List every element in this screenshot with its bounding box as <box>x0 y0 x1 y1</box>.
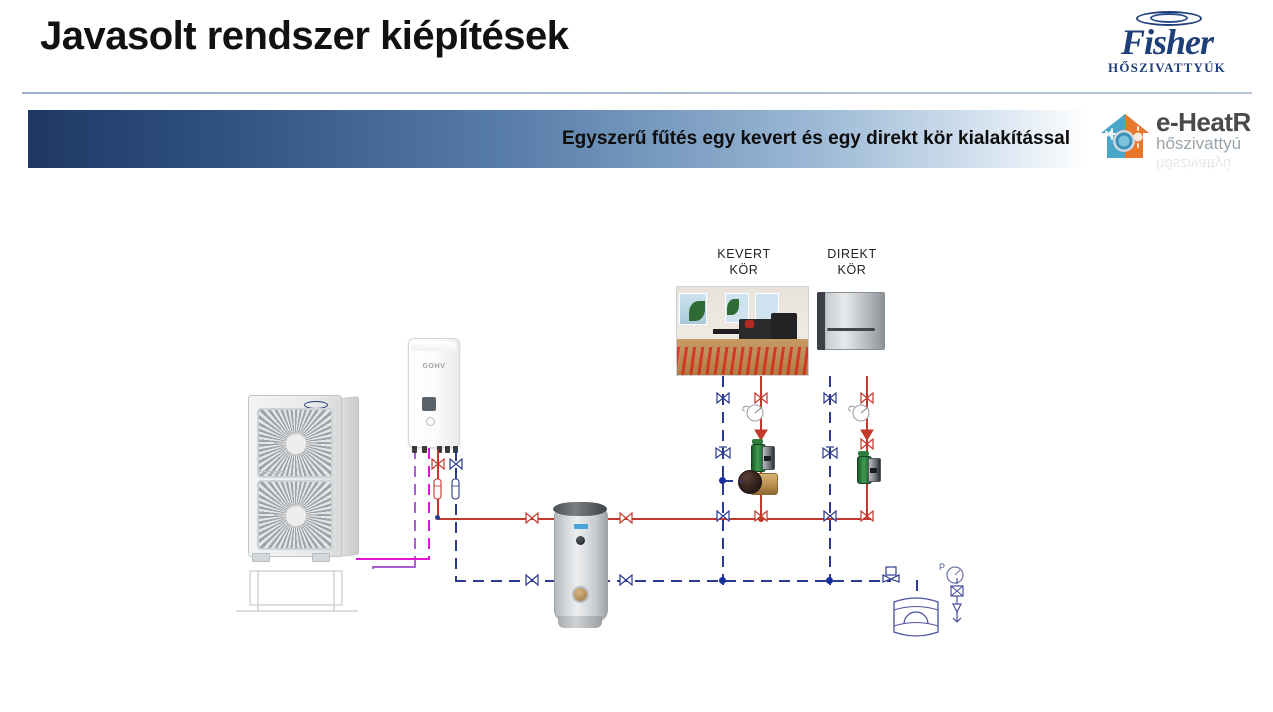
tank-flow-out-valve-icon <box>618 512 634 524</box>
slide-root: Javasolt rendszer kiépítések Fisher HŐSZ… <box>0 0 1273 712</box>
fisher-logo: Fisher HŐSZIVATTYÚK <box>1079 8 1255 80</box>
indoor-unit-display <box>422 397 436 411</box>
direct-return-tee-node <box>826 577 833 584</box>
house-icon <box>1098 112 1152 162</box>
indoor-unit-brand: GOHV <box>409 363 459 370</box>
direct-flow-mid-valve-icon <box>859 438 875 450</box>
expansion-vessel <box>890 594 942 642</box>
title-divider <box>22 92 1252 94</box>
fancoil-unit <box>817 292 885 350</box>
tank-return-valve-icon <box>524 574 540 586</box>
eheatr-text: e-HeatR hőszivattyú <box>1156 110 1251 153</box>
label-direkt-kor: DIREKT KÖR <box>808 246 896 278</box>
mixing-bypass-node <box>719 477 726 484</box>
tank-flange <box>572 586 589 603</box>
expansion-shutoff-valve-icon <box>880 566 902 584</box>
underfloor-heating-photo <box>676 286 809 376</box>
page-title: Javasolt rendszer kiépítések <box>40 14 569 59</box>
indoor-unit-knob[interactable] <box>426 417 435 426</box>
direct-flow-bottom-valve-icon <box>859 510 875 522</box>
filter-icon <box>433 478 442 500</box>
svg-text:P: P <box>939 562 945 572</box>
direct-circuit-pump <box>857 454 879 484</box>
tank-return-out-valve-icon <box>618 574 634 586</box>
outdoor-unit: Fisher <box>248 395 358 570</box>
refrigerant-violet-elbow <box>372 566 374 569</box>
fisher-tagline: HŐSZIVATTYÚK <box>1079 60 1255 76</box>
eheatr-logo: e-HeatR hőszivattyú hőszivattyú <box>1096 108 1273 170</box>
direct-return-riser <box>829 376 831 586</box>
mixed-return-bottom-valve-icon <box>715 510 731 522</box>
refrigerant-line-violet-horizontal <box>372 566 416 568</box>
safety-valve-icon <box>944 578 970 624</box>
tank-flow-valve-icon <box>524 512 540 524</box>
mixed-flow-valve-icon <box>753 392 769 404</box>
tank-badge <box>574 524 588 529</box>
mixed-return-tee-node <box>719 577 726 584</box>
mixed-circuit-pump <box>751 442 773 472</box>
fisher-swoosh-icon <box>1136 8 1198 25</box>
direct-flow-valve-icon <box>859 392 875 404</box>
outdoor-unit-stand <box>236 567 358 615</box>
buffer-tank <box>552 500 608 630</box>
mixed-flow-tee-node <box>758 516 764 522</box>
fan-grille-bottom <box>257 480 333 550</box>
refrigerant-line-magenta-horizontal <box>356 558 430 560</box>
flow-pipe-main-horizontal <box>437 518 871 520</box>
mixed-return-valve-icon <box>715 392 731 404</box>
direct-return-bottom-valve-icon <box>822 510 838 522</box>
subtitle-text: Egyszerű fűtés egy kevert és egy direkt … <box>28 110 1088 168</box>
indoor-hydro-unit: GOHV <box>408 338 460 448</box>
thermometer-icon <box>740 404 762 420</box>
fisher-wordmark: Fisher <box>1079 25 1255 59</box>
thermometer-direct-icon <box>846 404 868 420</box>
mixed-return-isolating-valve-icon <box>714 444 732 462</box>
filter-return-icon <box>451 478 460 500</box>
direct-return-valve-icon <box>822 392 838 404</box>
eheatr-tagline: hőszivattyú <box>1156 135 1251 153</box>
shutoff-valve-icon <box>430 458 446 470</box>
fan-grille-top <box>257 408 333 478</box>
label-kevert-kor: KEVERT KÖR <box>700 246 788 278</box>
direct-return-isolating-valve-icon <box>821 444 839 462</box>
tank-inspection-port <box>576 536 585 545</box>
eheatr-reflection: hőszivattyú <box>1156 155 1231 172</box>
refrigerant-line-violet-vertical <box>414 448 416 568</box>
system-diagram: KEVERT KÖR DIREKT KÖR Fisher <box>0 180 1273 712</box>
three-way-mixing-valve <box>738 470 776 496</box>
shutoff-valve-return-icon <box>448 458 464 470</box>
junction-node <box>435 515 440 520</box>
eheatr-wordmark: e-HeatR <box>1156 110 1251 135</box>
